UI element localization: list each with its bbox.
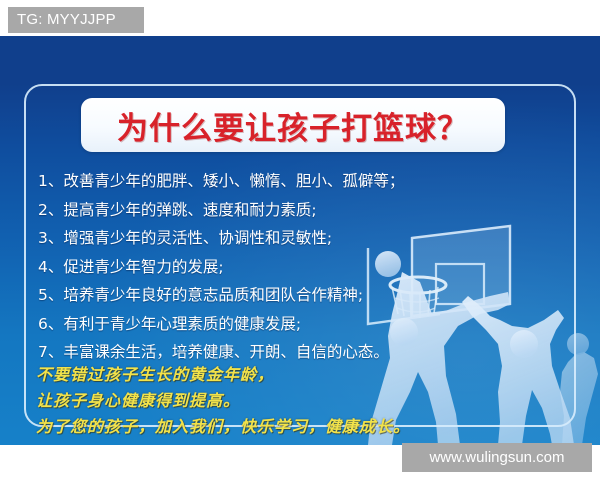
list-item: 2、提高青少年的弹跳、速度和耐力素质; (38, 196, 468, 225)
player-defending-silhouette (462, 296, 574, 445)
tg-tag-watermark: TG: MYYJJPP (8, 7, 144, 33)
list-item: 5、培养青少年良好的意志品质和团队合作精神; (38, 281, 468, 310)
closing-message-block: 不要错过孩子生长的黄金年龄， 让孩子身心健康得到提高。 为了您的孩子，加入我们，… (36, 362, 476, 440)
benefit-list: 1、改善青少年的肥胖、矮小、懒惰、胆小、孤僻等； 2、提高青少年的弹跳、速度和耐… (38, 167, 468, 367)
list-item: 6、有利于青少年心理素质的健康发展; (38, 310, 468, 339)
list-item: 3、增强青少年的灵活性、协调性和灵敏性; (38, 224, 468, 253)
closing-line: 让孩子身心健康得到提高。 (36, 388, 476, 414)
poster-background-panel: 为什么要让孩子打篮球？ 1、改善青少年的肥胖、矮小、懒惰、胆小、孤僻等； 2、提… (0, 36, 600, 445)
poster-image: TG: MYYJJPP (0, 0, 600, 480)
list-item: 1、改善青少年的肥胖、矮小、懒惰、胆小、孤僻等； (38, 167, 468, 196)
player-background-silhouette (560, 333, 598, 445)
closing-line: 为了您的孩子，加入我们，快乐学习，健康成长。 (36, 414, 476, 440)
site-url-watermark: www.wulingsun.com (402, 443, 592, 472)
title-plate: 为什么要让孩子打篮球？ (81, 98, 505, 152)
list-item: 4、促进青少年智力的发展; (38, 253, 468, 282)
closing-line: 不要错过孩子生长的黄金年龄， (36, 362, 476, 388)
page-title: 为什么要让孩子打篮球？ (117, 103, 469, 148)
